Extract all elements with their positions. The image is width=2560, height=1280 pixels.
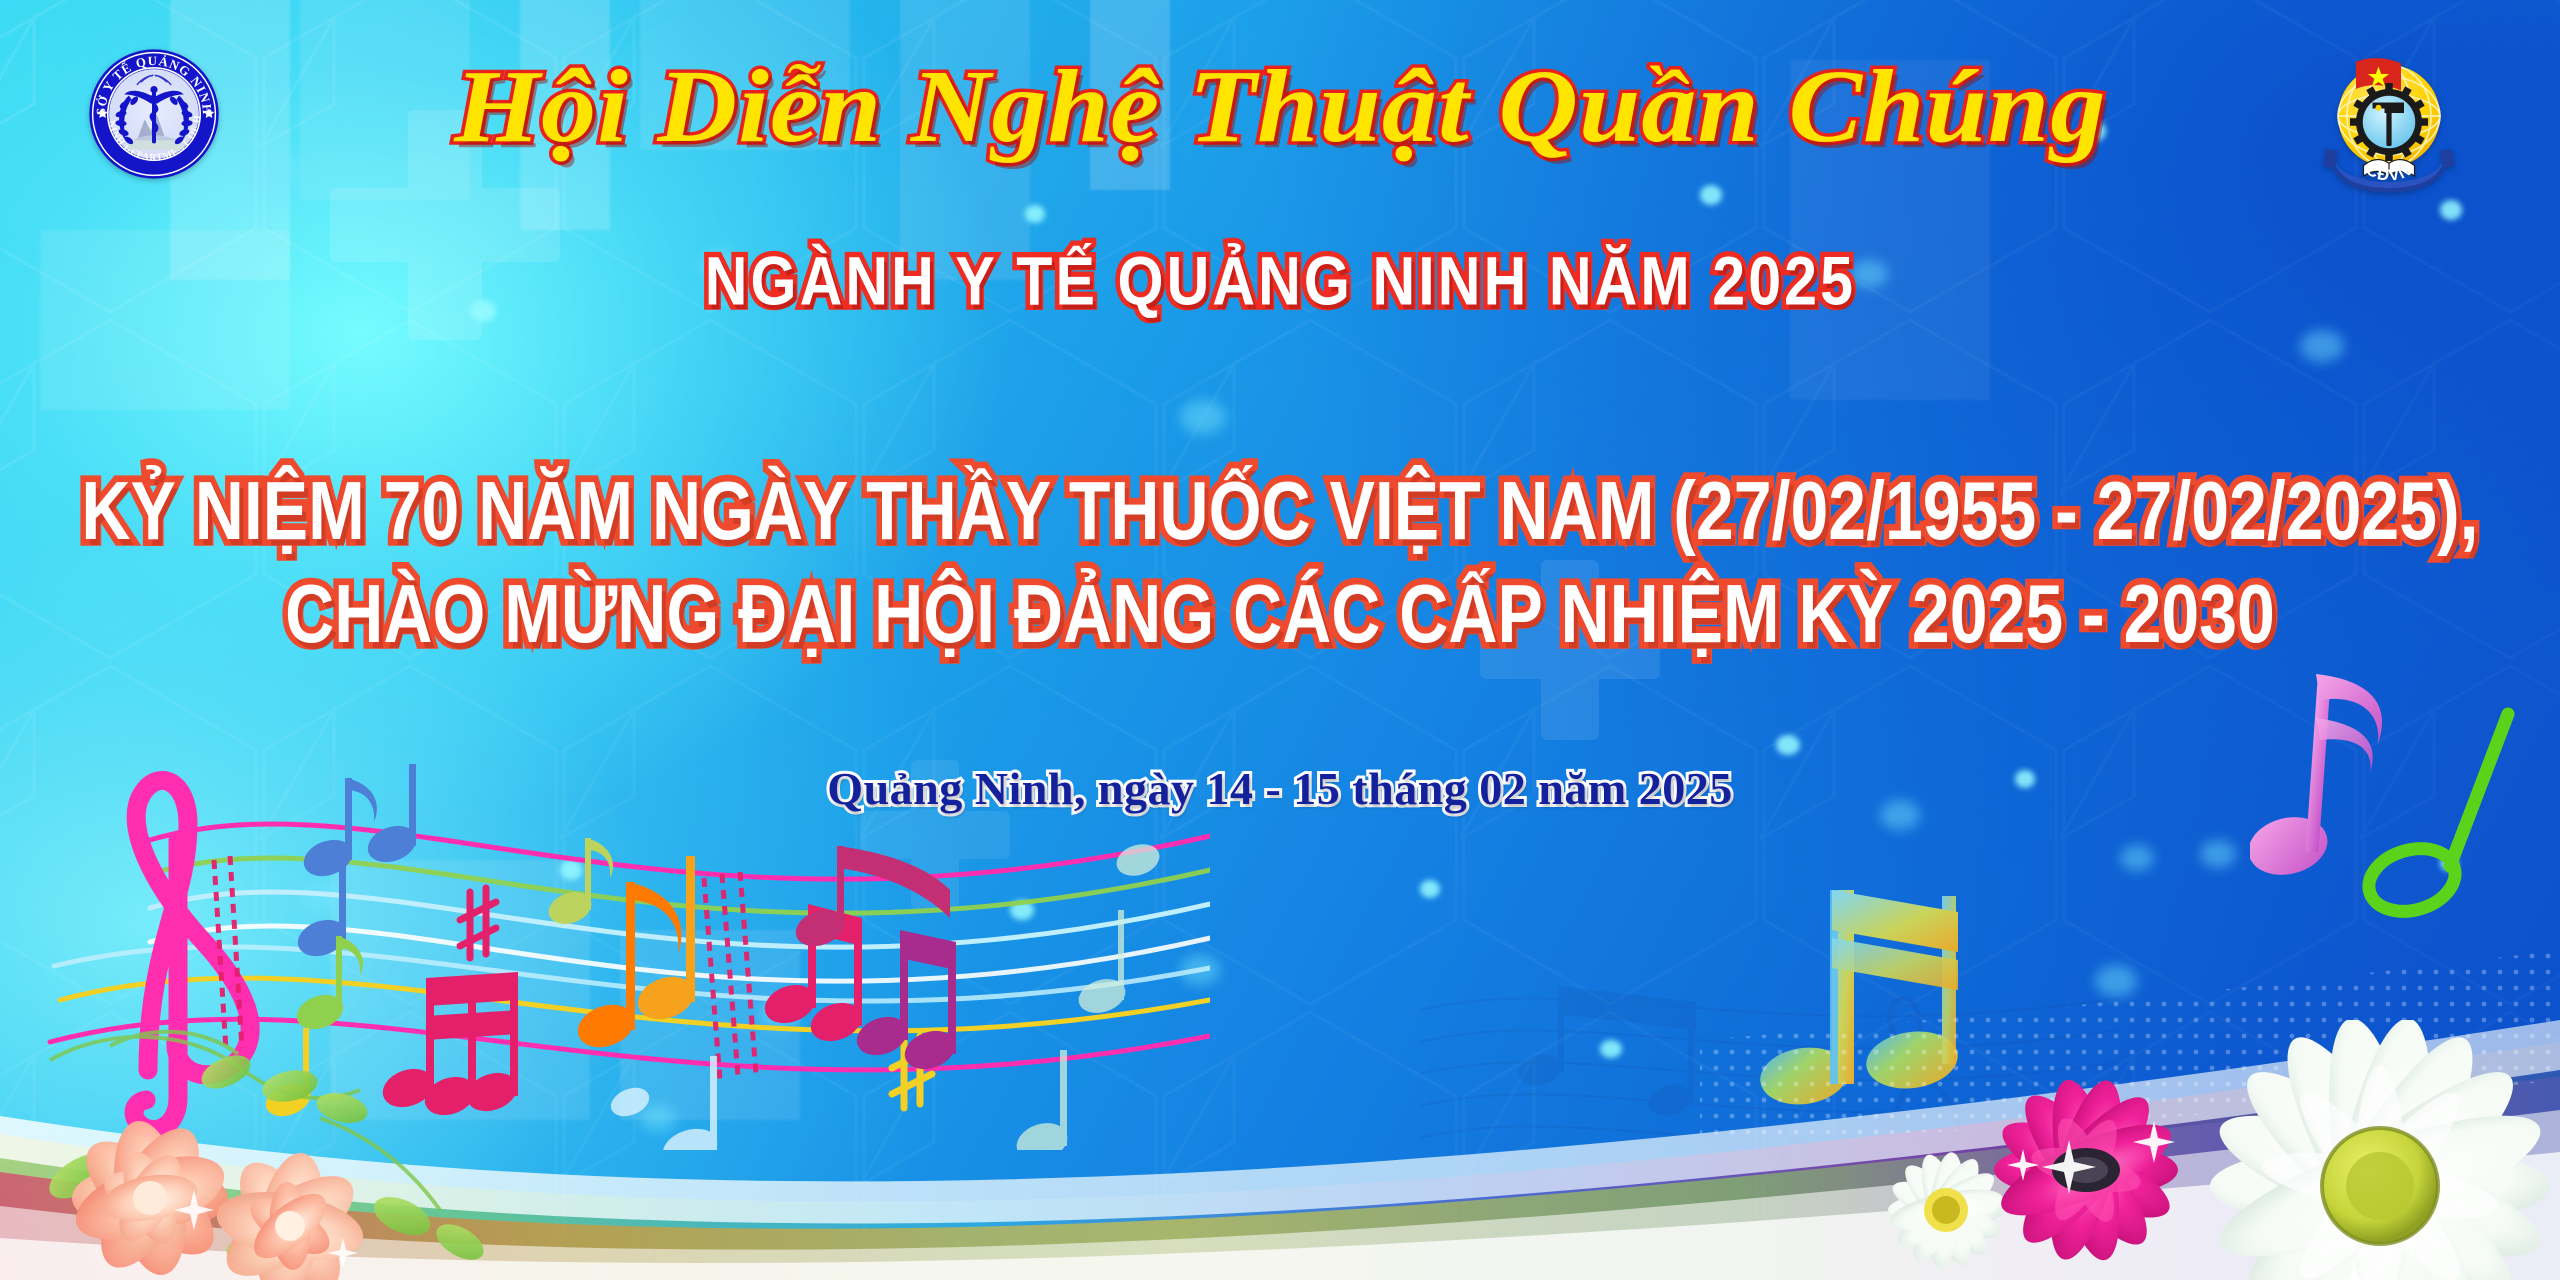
flowers-right-decoration [1850, 1020, 2560, 1280]
event-banner: SỞ Y TẾ QUẢNG NINH QUẢNG NINH DEPARTMENT… [0, 0, 2560, 1280]
banner-title-container: Hội Diễn Nghệ Thuật Quần Chúng [0, 54, 2560, 160]
flowers-left-decoration [0, 1020, 630, 1280]
logo-quang-ninh-health-department: SỞ Y TẾ QUẢNG NINH QUẢNG NINH DEPARTMENT… [88, 48, 220, 180]
banner-subtitle: NGÀNH Y TẾ QUẢNG NINH NĂM 2025 [704, 242, 1855, 321]
banner-subtitle-container: NGÀNH Y TẾ QUẢNG NINH NĂM 2025 [0, 248, 2560, 315]
logo-vietnam-trade-union-cdvn: CĐVN [2314, 44, 2464, 194]
green-outlined-half-note-icon [2350, 690, 2550, 940]
banner-message-container: KỶ NIỆM 70 NĂM NGÀY THẦY THUỐC VIỆT NAM … [0, 460, 2560, 667]
page-title: Hội Diễn Nghệ Thuật Quần Chúng [454, 54, 2106, 160]
banner-message-line-2: CHÀO MỪNG ĐẠI HỘI ĐẢNG CÁC CẤP NHIỆM KỲ … [0, 552, 2560, 678]
